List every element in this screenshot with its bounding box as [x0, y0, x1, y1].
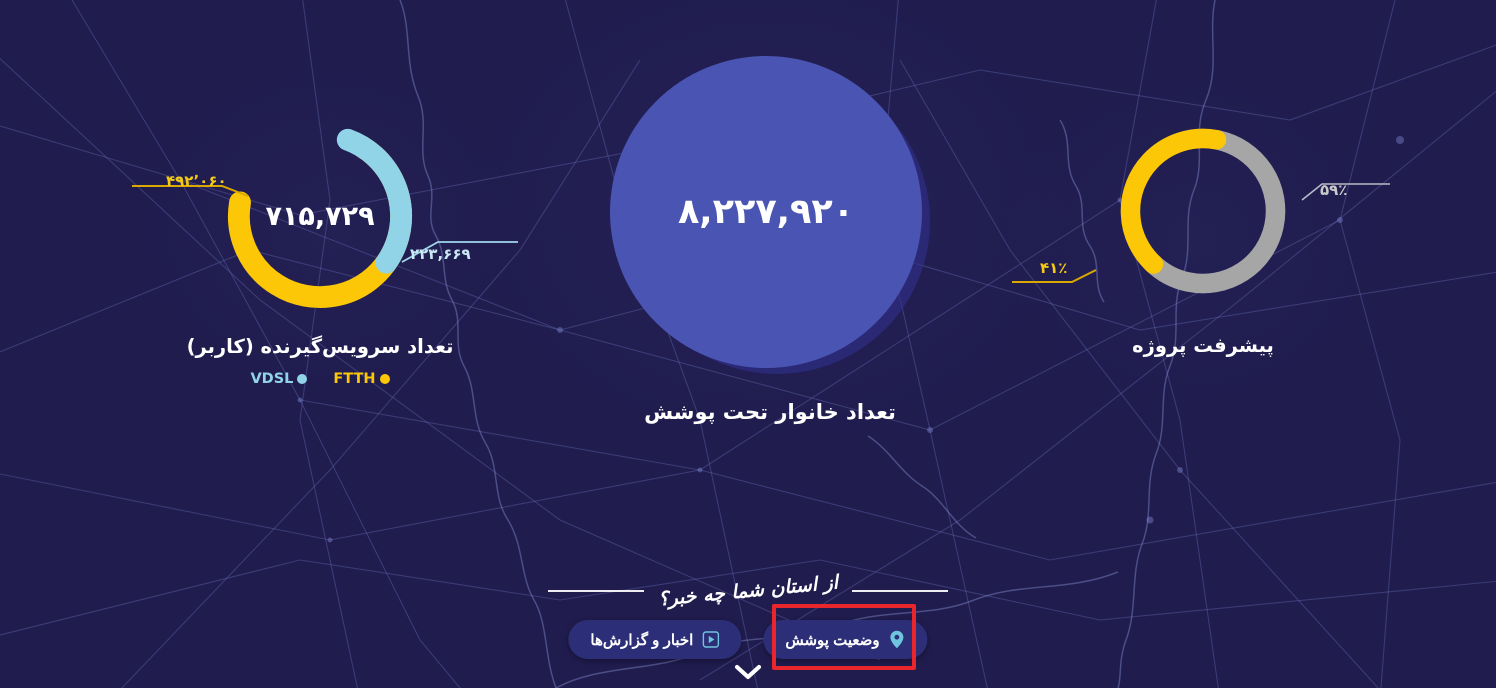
chart-households: ۸,۲۲۷,۹۲۰ تعداد خانوار تحت پوشش	[600, 56, 940, 424]
users-donut-svg	[216, 112, 424, 320]
arc-remaining	[1117, 125, 1289, 297]
callout-progress-remaining: ۵۹٪	[1320, 181, 1347, 199]
location-pin-icon	[889, 630, 906, 649]
households-circle-wrap[interactable]: ۸,۲۲۷,۹۲۰	[610, 56, 930, 376]
cta-rule-left	[852, 590, 948, 592]
video-play-icon	[702, 631, 719, 648]
callout-progress-completed: ۴۱٪	[1040, 259, 1067, 277]
legend-dot-ftth	[380, 374, 390, 384]
legend-label-ftth: FTTH	[333, 371, 375, 387]
users-legend: VDSL FTTH	[170, 371, 470, 387]
chart-progress-donut: پیشرفت پروژه	[1053, 118, 1353, 357]
callout-ftth-value: ۴۹۲٬۰۶۰	[166, 172, 227, 190]
cta-script-text: از استان شما چه خبر؟	[657, 571, 839, 610]
legend-item-ftth: FTTH	[333, 371, 389, 387]
news-reports-button[interactable]: اخبار و گزارش‌ها	[568, 620, 741, 659]
users-donut-ring[interactable]: ۷۱۵,۷۲۹	[216, 112, 424, 320]
legend-item-vdsl: VDSL	[250, 371, 307, 387]
progress-donut-ring[interactable]	[1110, 118, 1296, 304]
households-caption: تعداد خانوار تحت پوشش	[600, 400, 940, 424]
legend-label-vdsl: VDSL	[250, 371, 293, 387]
progress-caption: پیشرفت پروژه	[1053, 334, 1353, 357]
coverage-status-label: وضعیت پوشش	[785, 631, 879, 649]
cta-rule-right	[548, 590, 644, 592]
progress-donut-svg	[1110, 118, 1296, 304]
coverage-status-button[interactable]: وضعیت پوشش	[763, 620, 927, 659]
callout-vdsl-value: ۲۲۳,۶۶۹	[410, 245, 471, 263]
news-reports-label: اخبار و گزارش‌ها	[590, 631, 693, 649]
users-caption: تعداد سرویس‌گیرنده (کاربر)	[170, 335, 470, 358]
chevron-down-icon[interactable]	[733, 664, 763, 686]
cta-section: از استان شما چه خبر؟ وضعیت پوشش اخبار و …	[0, 568, 1496, 688]
cta-heading-row: از استان شما چه خبر؟	[548, 580, 948, 602]
cta-button-row: وضعیت پوشش اخبار و گزارش‌ها	[568, 620, 927, 659]
legend-dot-vdsl	[297, 374, 307, 384]
households-value: ۸,۲۲۷,۹۲۰	[610, 56, 922, 368]
